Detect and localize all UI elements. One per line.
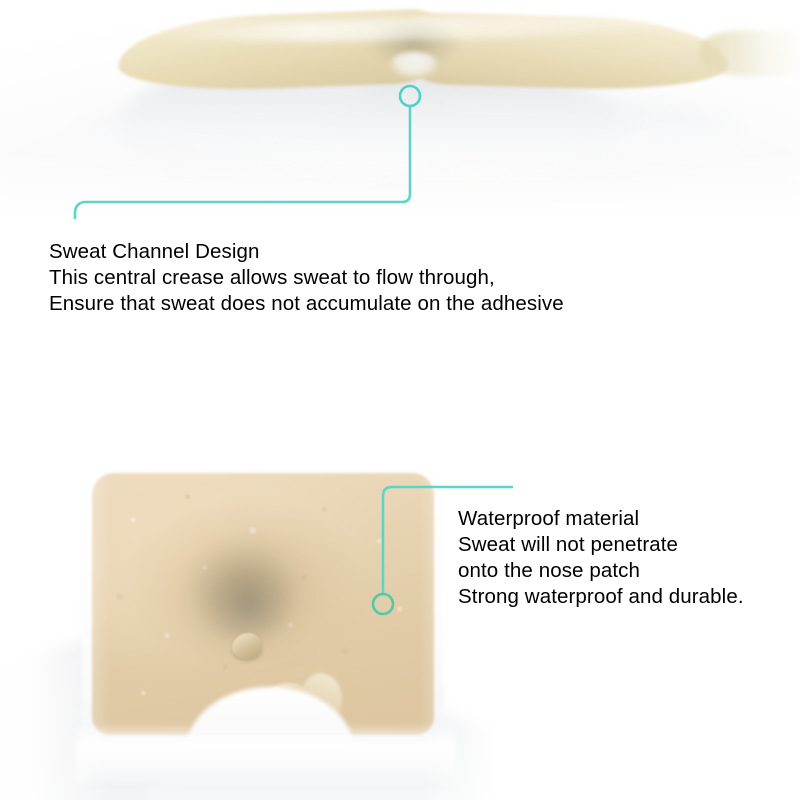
- caption-sweat-channel-line-1: This central crease allows sweat to flow…: [49, 265, 564, 291]
- caption-waterproof-line-1: Sweat will not penetrate: [458, 532, 744, 558]
- caption-waterproof-material: Waterproof material Sweat will not penet…: [458, 506, 744, 610]
- nasal-strip-photo: [0, 0, 800, 230]
- caption-waterproof-line-2: onto the nose patch: [458, 558, 744, 584]
- top-photo-fade: [0, 150, 800, 230]
- product-infographic: Sweat Channel Design This central crease…: [0, 0, 800, 800]
- caption-waterproof-line-3: Strong waterproof and durable.: [458, 584, 744, 610]
- nasal-strip-crease-dip: [388, 52, 440, 82]
- caption-waterproof-heading: Waterproof material: [458, 506, 744, 532]
- caption-sweat-channel: Sweat Channel Design This central crease…: [49, 239, 564, 317]
- caption-sweat-channel-heading: Sweat Channel Design: [49, 239, 564, 265]
- nasal-strip-far-tail: [700, 30, 800, 76]
- patch-left-fade: [0, 455, 110, 800]
- caption-sweat-channel-line-2: Ensure that sweat does not accumulate on…: [49, 291, 564, 317]
- patch-bottom-edge: [76, 723, 456, 783]
- patch-resin-bead: [232, 633, 262, 659]
